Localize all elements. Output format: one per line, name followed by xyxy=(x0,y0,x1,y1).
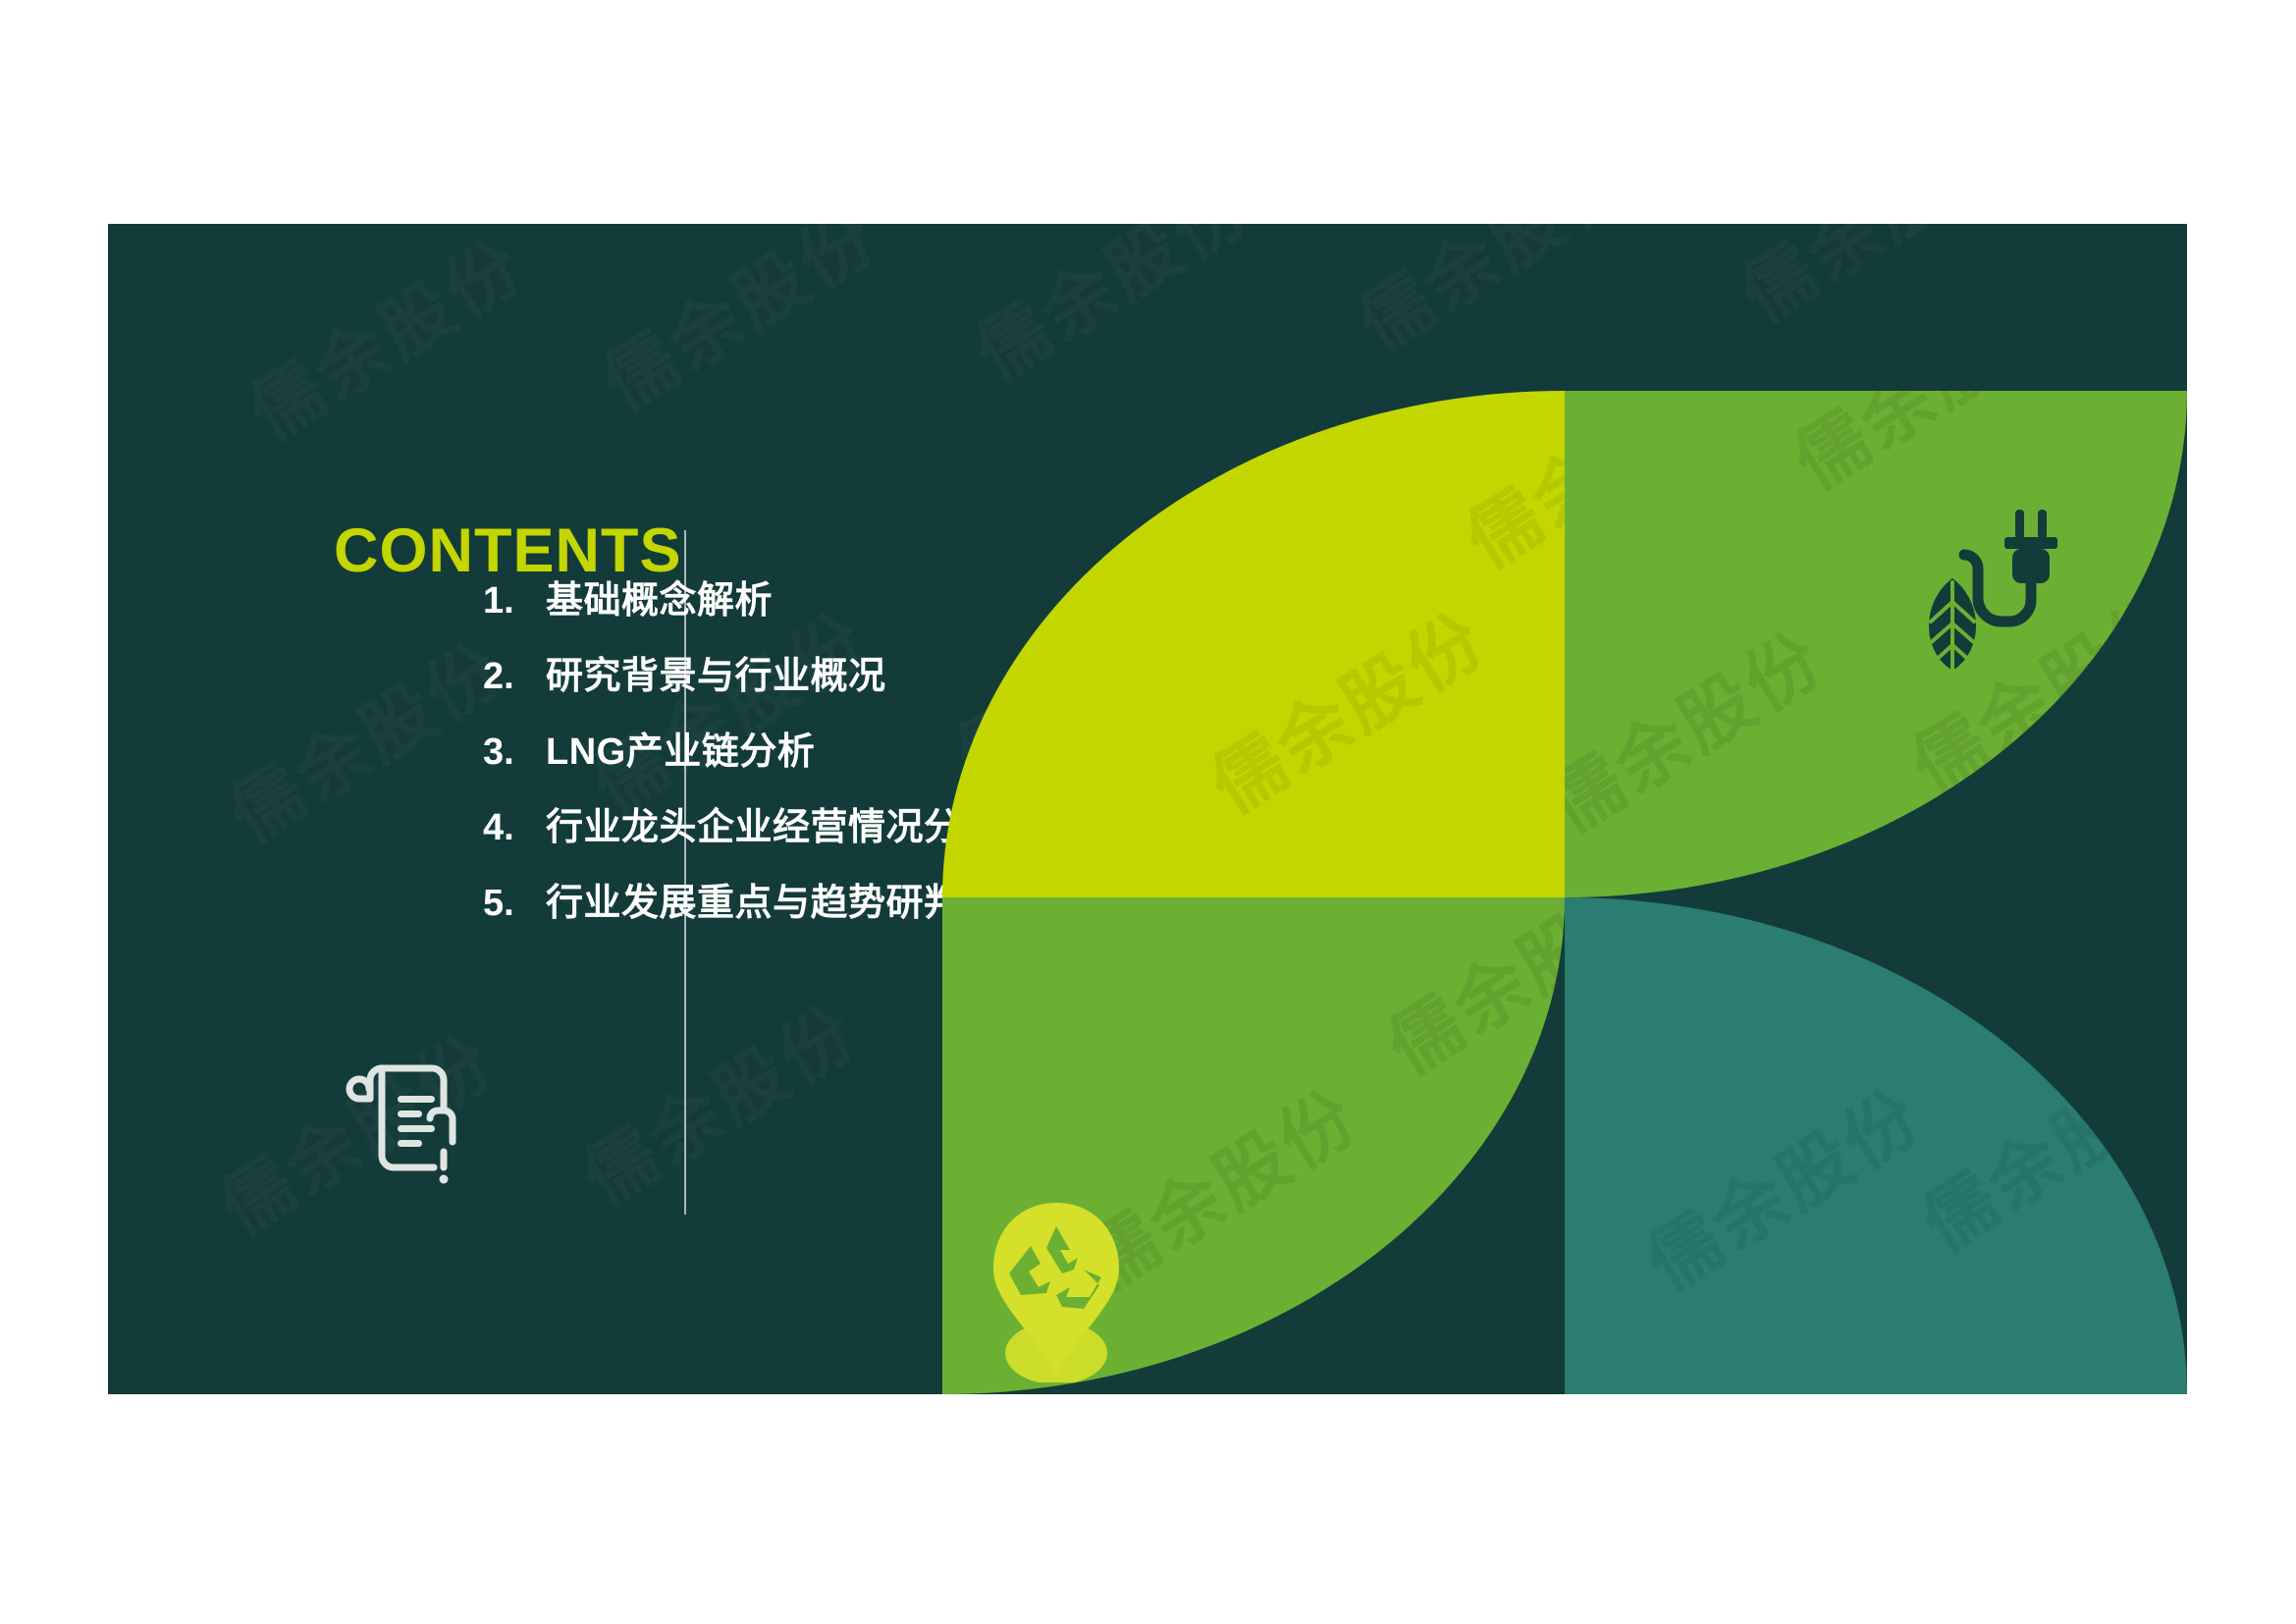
toc-item-number: 4. xyxy=(483,809,546,846)
toc-item-number: 2. xyxy=(483,658,546,695)
watermark: 儒余股份 xyxy=(1364,897,1565,1095)
watermark: 儒余股份 xyxy=(1565,602,1841,853)
page-canvas: 儒余股份 儒余股份 儒余股份 儒余股份 儒余股份 儒余股份 儒余股份 儒余股份 … xyxy=(0,0,2296,1624)
toc-item-label: 基础概念解析 xyxy=(546,582,773,620)
toc-item-number: 3. xyxy=(483,733,546,771)
watermark: 儒余股份 xyxy=(1443,391,1565,588)
watermark: 儒余股份 xyxy=(1718,224,2033,343)
quadrant-top-right: 儒余股份 儒余股份 儒余股份 xyxy=(1565,391,2187,897)
toc-item-number: 1. xyxy=(483,582,546,620)
watermark: 儒余股份 xyxy=(579,224,894,431)
leaf-plug-icon xyxy=(1913,508,2080,675)
watermark: 儒余股份 xyxy=(560,975,875,1226)
watermark: 儒余股份 xyxy=(1624,1059,1939,1311)
quadrant-bottom-right: 儒余股份 儒余股份 xyxy=(1565,897,2187,1394)
toc-item-label: 研究背景与行业概况 xyxy=(546,658,886,695)
quadrant-bottom-left: 儒余股份 儒余股份 xyxy=(942,897,1565,1394)
toc-item-number: 5. xyxy=(483,885,546,922)
toc-item-label: 行业龙头企业经营情况分析 xyxy=(546,809,999,846)
page-title: CONTENTS xyxy=(334,520,682,582)
recycle-pin-icon xyxy=(986,1201,1128,1382)
decorative-quadrant-graphic: 儒余股份 儒余股份 儒余股份 儒余股份 儒余股份 儒余股份 xyxy=(942,391,2187,1394)
toc-item-label: 行业发展重点与趋势研判 xyxy=(546,885,962,922)
watermark: 儒余股份 xyxy=(952,224,1267,402)
watermark: 儒余股份 xyxy=(1771,391,2086,510)
presentation-slide: 儒余股份 儒余股份 儒余股份 儒余股份 儒余股份 儒余股份 儒余股份 儒余股份 … xyxy=(108,224,2187,1394)
watermark: 儒余股份 xyxy=(226,224,541,460)
document-scroll-icon xyxy=(344,1054,471,1191)
toc-item-label: LNG产业链分析 xyxy=(546,733,815,771)
watermark: 儒余股份 xyxy=(206,612,521,863)
watermark: 儒余股份 xyxy=(1188,582,1503,834)
watermark: 儒余股份 xyxy=(1335,224,1650,372)
quadrant-top-left: 儒余股份 儒余股份 儒余股份 xyxy=(942,391,1565,897)
watermark: 儒余股份 xyxy=(1898,1020,2187,1272)
